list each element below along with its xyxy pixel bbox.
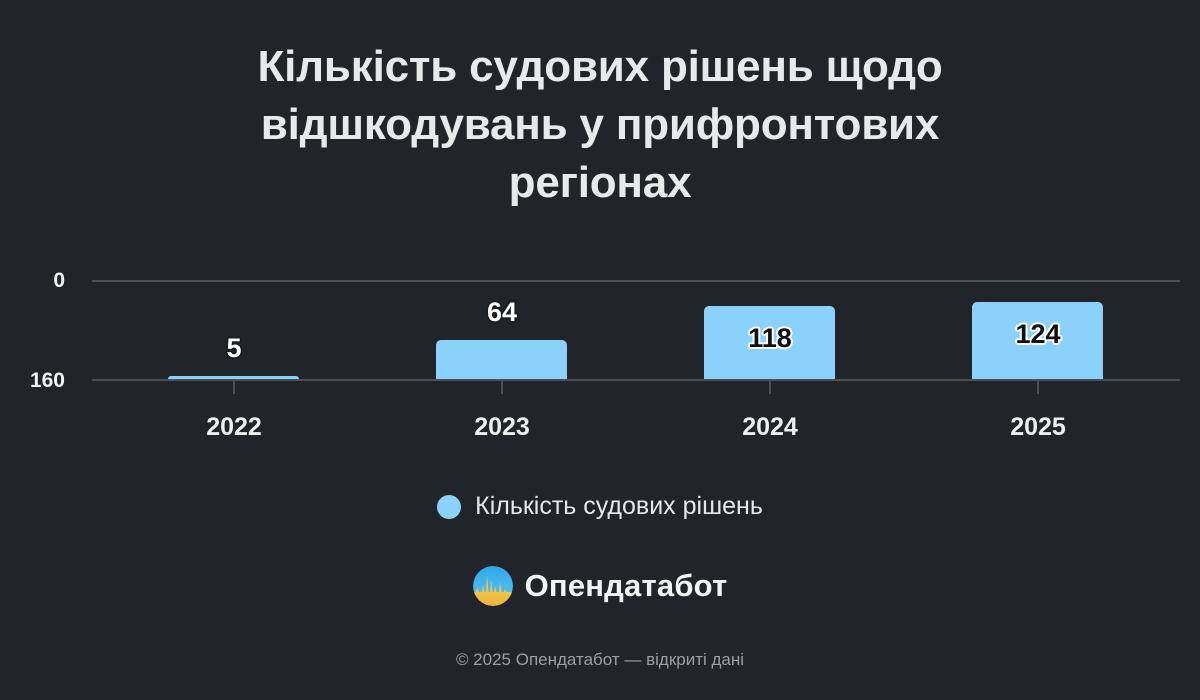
- circle-marker-icon: [437, 495, 461, 519]
- chart-legend: Кількість судових рішень: [0, 492, 1200, 521]
- x-axis-tick-mark-2025: [1037, 381, 1039, 394]
- y-axis-tick-label-160: 0: [0, 269, 65, 293]
- bar-value-label-2022: 5: [154, 333, 314, 364]
- axis-baseline-0: [92, 379, 1180, 381]
- bar-value-label-2023: 64: [422, 297, 582, 328]
- bar-value-label-2024: 118: [690, 323, 850, 354]
- x-axis-tick-label-2022: 2022: [154, 413, 314, 442]
- bar-2023[interactable]: [436, 340, 567, 379]
- x-axis-tick-mark-2022: [233, 381, 235, 394]
- brand-block: Опендатабот: [0, 566, 1200, 606]
- bar-2022[interactable]: [168, 376, 299, 379]
- gridline-160: [92, 280, 1180, 282]
- legend-item-label: Кількість судових рішень: [475, 492, 763, 521]
- brand-name-label: Опендатабот: [525, 568, 728, 604]
- x-axis-tick-label-2023: 2023: [422, 413, 582, 442]
- infographic-canvas: Кількість судових рішень щодо відшкодува…: [0, 0, 1200, 700]
- bar-value-label-2025: 124: [958, 319, 1118, 350]
- x-axis-tick-label-2025: 2025: [958, 413, 1118, 442]
- footer-copyright: © 2025 Опендатабот — відкриті дані: [0, 650, 1200, 670]
- x-axis-tick-label-2024: 2024: [690, 413, 850, 442]
- y-axis-tick-label-0: 160: [0, 369, 65, 393]
- x-axis-tick-mark-2023: [501, 381, 503, 394]
- x-axis-tick-mark-2024: [769, 381, 771, 394]
- opendatabot-logo-icon: [473, 566, 513, 606]
